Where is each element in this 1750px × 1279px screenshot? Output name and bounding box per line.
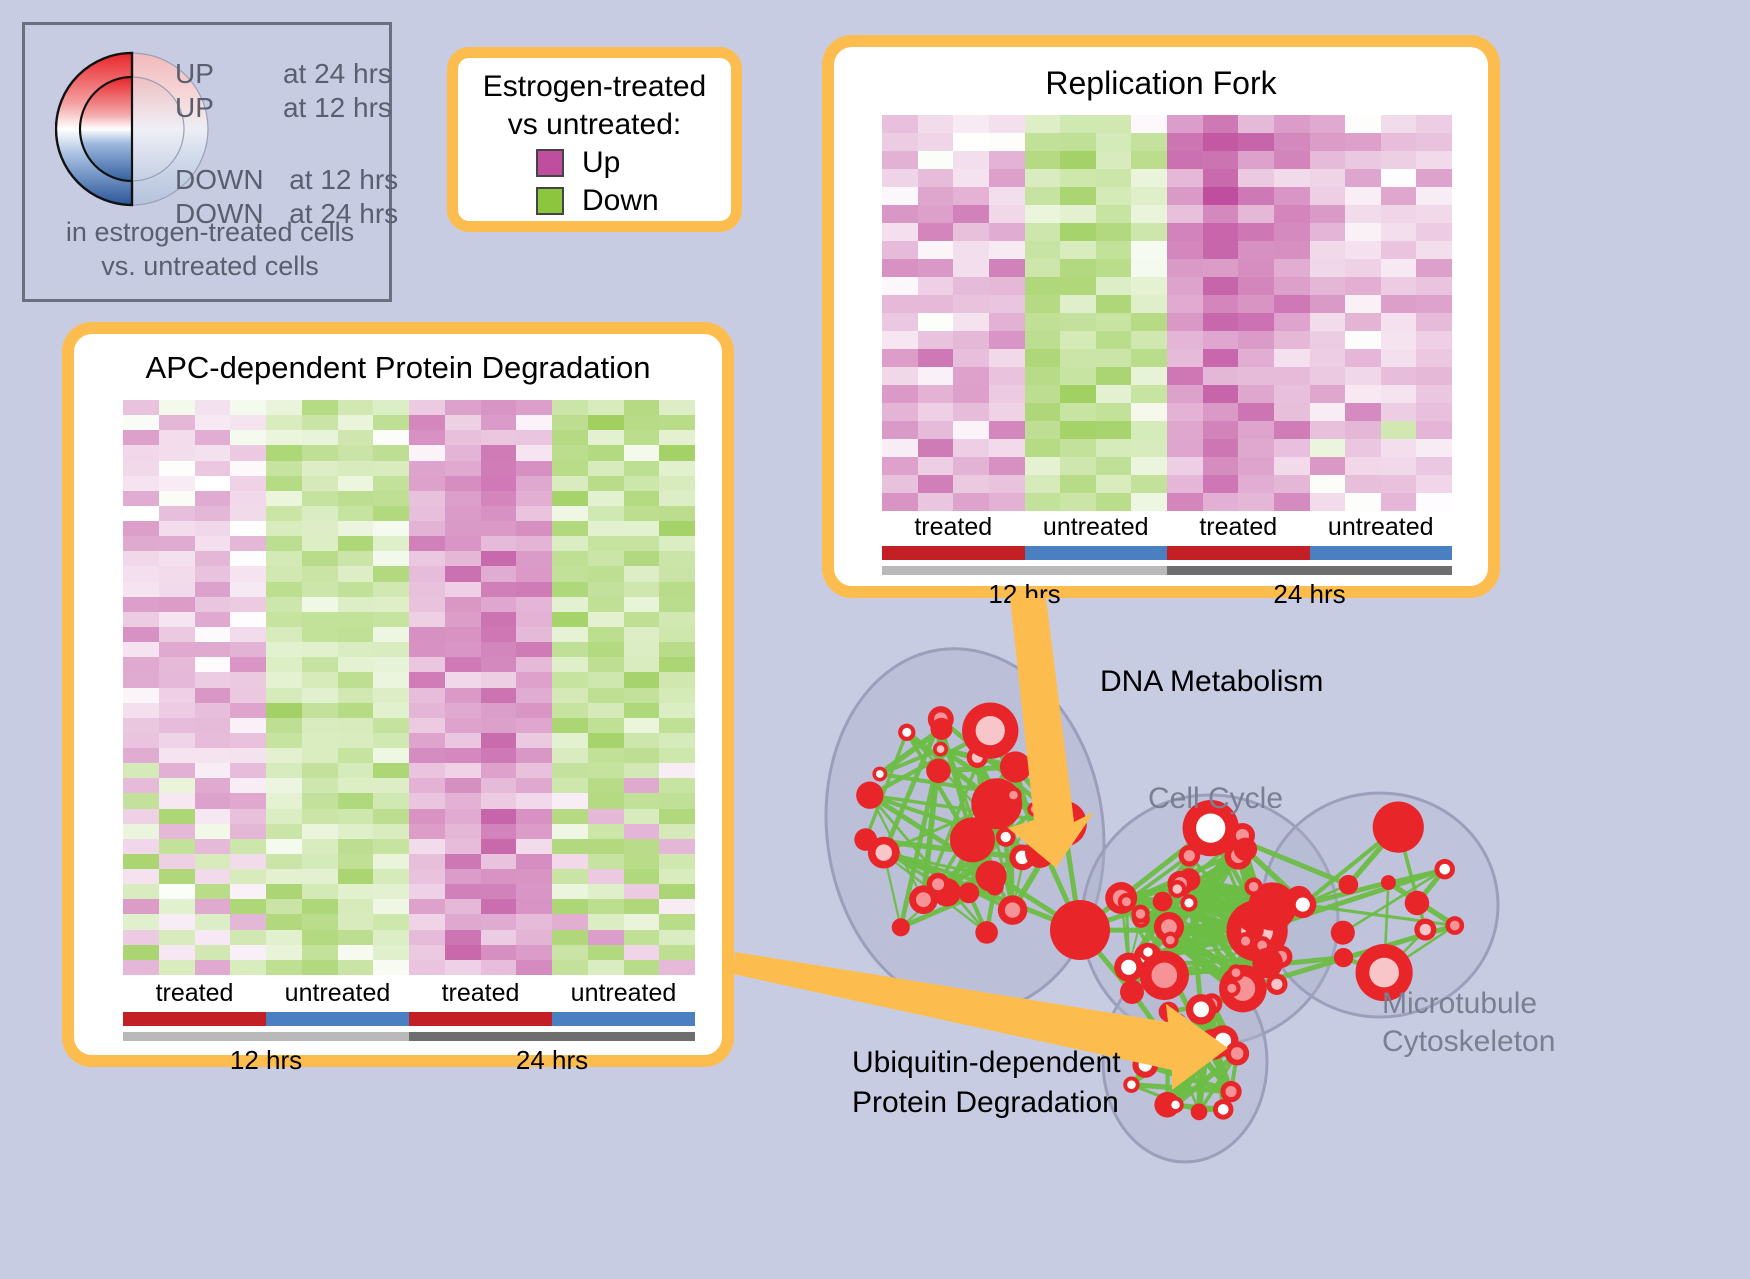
heatmap-cell bbox=[445, 718, 481, 733]
heatmap-cell bbox=[918, 349, 954, 367]
heatmap-cell bbox=[230, 582, 266, 597]
heatmap-cell bbox=[1345, 151, 1381, 169]
heatmap-cell bbox=[1203, 403, 1239, 421]
heatmap-cell bbox=[552, 793, 588, 808]
heatmap-cell bbox=[1416, 457, 1452, 475]
network-node bbox=[930, 718, 952, 740]
heatmap-cell bbox=[159, 960, 195, 975]
network-node bbox=[1234, 838, 1257, 861]
heatmap-cell bbox=[159, 718, 195, 733]
heatmap-cell bbox=[230, 461, 266, 476]
heatmap-cell bbox=[266, 430, 302, 445]
heatmap-cell bbox=[552, 899, 588, 914]
heatmap-cell bbox=[1310, 385, 1346, 403]
heatmap-cell bbox=[409, 521, 445, 536]
heatmap-cell bbox=[1345, 313, 1381, 331]
heatmap-cell bbox=[516, 445, 552, 460]
heatmap-cell bbox=[409, 824, 445, 839]
heatmap-cell bbox=[1416, 349, 1452, 367]
cluster-label-microtubule-cytoskeleton: Microtubule Cytoskeleton bbox=[1382, 985, 1555, 1061]
heatmap-cell bbox=[516, 960, 552, 975]
heatmap-cell bbox=[624, 642, 660, 657]
heatmap-cell bbox=[552, 642, 588, 657]
heatmap-cell bbox=[123, 642, 159, 657]
heatmap-cell bbox=[882, 259, 918, 277]
heatmap-cell bbox=[516, 536, 552, 551]
heatmap-cell bbox=[266, 748, 302, 763]
heatmap-cell bbox=[338, 536, 374, 551]
heatmap-cell bbox=[445, 597, 481, 612]
heatmap-cell bbox=[266, 884, 302, 899]
heatmap-cell bbox=[1025, 403, 1061, 421]
heatmap-cell bbox=[659, 430, 695, 445]
network-node-core bbox=[1225, 1086, 1236, 1097]
time-bar-segment bbox=[882, 566, 1167, 575]
heatmap-cell bbox=[1203, 115, 1239, 133]
heatmap-cell bbox=[1416, 403, 1452, 421]
key-row-up-24: UP at 24 hrs bbox=[175, 57, 405, 91]
heatmap-cell bbox=[1238, 421, 1274, 439]
heatmap-cell bbox=[552, 582, 588, 597]
heatmap-cell bbox=[1131, 385, 1167, 403]
heatmap-cell bbox=[918, 385, 954, 403]
heatmap-cell bbox=[882, 457, 918, 475]
heatmap-cell bbox=[624, 400, 660, 415]
heatmap-cell bbox=[588, 914, 624, 929]
heatmap-cell bbox=[624, 960, 660, 975]
heatmap-cell bbox=[195, 748, 231, 763]
heatmap-cell bbox=[159, 688, 195, 703]
treatment-bar-segment bbox=[1310, 546, 1453, 560]
heatmap-cell bbox=[302, 521, 338, 536]
heatmap-cell bbox=[659, 793, 695, 808]
heatmap-cell bbox=[1345, 403, 1381, 421]
heatmap-cell bbox=[159, 839, 195, 854]
heatmap-cell bbox=[373, 688, 409, 703]
heatmap-cell bbox=[1345, 133, 1381, 151]
heatmap-cell bbox=[409, 854, 445, 869]
heatmap-cell bbox=[918, 205, 954, 223]
heatmap-cell bbox=[1310, 403, 1346, 421]
heatmap-cell bbox=[1167, 349, 1203, 367]
heatmap-cell bbox=[373, 839, 409, 854]
heatmap-cell bbox=[445, 551, 481, 566]
heatmap-cell bbox=[481, 582, 517, 597]
heatmap-cell bbox=[195, 430, 231, 445]
heatmap-cell bbox=[1238, 439, 1274, 457]
heatmap-cell bbox=[1025, 295, 1061, 313]
heatmap-cell bbox=[481, 899, 517, 914]
heatmap-cell bbox=[481, 551, 517, 566]
heatmap-cell bbox=[1416, 259, 1452, 277]
heatmap-cell bbox=[445, 461, 481, 476]
heatmap-cell bbox=[373, 884, 409, 899]
heatmap-cell bbox=[338, 657, 374, 672]
heatmap-cell bbox=[1310, 313, 1346, 331]
network-node-core bbox=[1171, 1101, 1180, 1110]
heatmap-cell bbox=[266, 536, 302, 551]
heatmap-cell bbox=[1167, 205, 1203, 223]
heatmap-cell bbox=[1167, 277, 1203, 295]
heatmap-cell bbox=[552, 960, 588, 975]
heatmap-cell bbox=[1310, 349, 1346, 367]
heatmap-cell bbox=[624, 566, 660, 581]
heatmap-cell bbox=[1238, 295, 1274, 313]
heatmap-cell bbox=[123, 582, 159, 597]
heatmap-cell bbox=[1274, 187, 1310, 205]
heatmap-cell bbox=[1025, 205, 1061, 223]
heatmap-cell bbox=[1203, 457, 1239, 475]
heatmap-cell bbox=[989, 277, 1025, 295]
heatmap-cell bbox=[1345, 349, 1381, 367]
heatmap-cell bbox=[1131, 295, 1167, 313]
apc-treatment-bar bbox=[123, 1012, 695, 1026]
heatmap-cell bbox=[1060, 169, 1096, 187]
network-node-core bbox=[1005, 902, 1020, 917]
heatmap-cell bbox=[624, 672, 660, 687]
heatmap-cell bbox=[123, 521, 159, 536]
heatmap-cell bbox=[159, 733, 195, 748]
heatmap-cell bbox=[552, 839, 588, 854]
cluster-label-ubiquitin-line2: Protein Degradation bbox=[852, 1083, 1121, 1123]
heatmap-cell bbox=[989, 439, 1025, 457]
heatmap-cell bbox=[953, 367, 989, 385]
heatmap-cell bbox=[159, 627, 195, 642]
heatmap-cell bbox=[159, 612, 195, 627]
heatmap-cell bbox=[1060, 277, 1096, 295]
heatmap-cell bbox=[552, 763, 588, 778]
treatment-bar-segment bbox=[1167, 546, 1310, 560]
heatmap-cell bbox=[338, 688, 374, 703]
heatmap-cell bbox=[1345, 493, 1381, 511]
heatmap-cell bbox=[123, 733, 159, 748]
heatmap-cell bbox=[195, 445, 231, 460]
heatmap-cell bbox=[159, 491, 195, 506]
expression-key-rows: UP at 24 hrs UP at 12 hrs DOWN at 12 hrs… bbox=[175, 57, 405, 231]
heatmap-cell bbox=[516, 884, 552, 899]
heatmap-cell bbox=[123, 930, 159, 945]
heatmap-cell bbox=[1345, 277, 1381, 295]
heatmap-cell bbox=[953, 457, 989, 475]
heatmap-cell bbox=[588, 718, 624, 733]
heatmap-cell bbox=[266, 718, 302, 733]
heatmap-cell bbox=[123, 945, 159, 960]
heatmap-cell bbox=[195, 612, 231, 627]
heatmap-cell bbox=[266, 521, 302, 536]
network-node-core bbox=[1173, 884, 1182, 893]
network-node-core bbox=[1184, 898, 1193, 907]
heatmap-cell bbox=[659, 506, 695, 521]
heatmap-cell bbox=[659, 778, 695, 793]
heatmap-cell bbox=[123, 778, 159, 793]
heatmap-cell bbox=[1381, 331, 1417, 349]
heatmap-cell bbox=[1274, 241, 1310, 259]
heatmap-cell bbox=[659, 733, 695, 748]
heatmap-cell bbox=[409, 491, 445, 506]
heatmap-cell bbox=[230, 506, 266, 521]
heatmap-cell bbox=[1060, 115, 1096, 133]
heatmap-cell bbox=[989, 205, 1025, 223]
heatmap-cell bbox=[918, 421, 954, 439]
heatmap-cell bbox=[481, 839, 517, 854]
heatmap-cell bbox=[882, 223, 918, 241]
heatmap-cell bbox=[302, 793, 338, 808]
heatmap-cell bbox=[516, 521, 552, 536]
heatmap-cell bbox=[1060, 331, 1096, 349]
heatmap-cell bbox=[1238, 187, 1274, 205]
heatmap-cell bbox=[230, 430, 266, 445]
network-node bbox=[856, 782, 883, 809]
heatmap-cell bbox=[338, 642, 374, 657]
heatmap-cell bbox=[516, 400, 552, 415]
heatmap-cell bbox=[588, 597, 624, 612]
heatmap-cell bbox=[195, 854, 231, 869]
heatmap-cell bbox=[1203, 133, 1239, 151]
network-node bbox=[1000, 751, 1031, 782]
heatmap-cell bbox=[409, 703, 445, 718]
heatmap-cell bbox=[159, 854, 195, 869]
heatmap-cell bbox=[953, 439, 989, 457]
heatmap-cell bbox=[373, 491, 409, 506]
heatmap-cell bbox=[552, 672, 588, 687]
expression-key-box: UP at 24 hrs UP at 12 hrs DOWN at 12 hrs… bbox=[22, 22, 392, 302]
heatmap-cell bbox=[230, 551, 266, 566]
heatmap-cell bbox=[1203, 295, 1239, 313]
heatmap-cell bbox=[266, 778, 302, 793]
heatmap-cell bbox=[373, 703, 409, 718]
heatmap-cell bbox=[302, 824, 338, 839]
heatmap-cell bbox=[1310, 457, 1346, 475]
network-node-core bbox=[1249, 882, 1259, 892]
network-node bbox=[1252, 948, 1283, 979]
heatmap-cell bbox=[195, 839, 231, 854]
group-label-untreated-24: untreated bbox=[1310, 513, 1453, 542]
expression-key-caption: in estrogen-treated cells vs. untreated … bbox=[25, 215, 395, 283]
heatmap-cell bbox=[1060, 313, 1096, 331]
heatmap-cell bbox=[159, 461, 195, 476]
heatmap-cell bbox=[195, 824, 231, 839]
heatmap-cell bbox=[588, 854, 624, 869]
heatmap-cell bbox=[624, 763, 660, 778]
heatmap-cell bbox=[624, 793, 660, 808]
heatmap-cell bbox=[516, 733, 552, 748]
heatmap-cell bbox=[266, 582, 302, 597]
heatmap-cell bbox=[882, 205, 918, 223]
heatmap-cell bbox=[516, 899, 552, 914]
heatmap-cell bbox=[1167, 295, 1203, 313]
heatmap-cell bbox=[1025, 421, 1061, 439]
heatmap-cell bbox=[159, 642, 195, 657]
heatmap-cell bbox=[409, 476, 445, 491]
heatmap-cell bbox=[1381, 205, 1417, 223]
heatmap-cell bbox=[230, 627, 266, 642]
heatmap-cell bbox=[552, 657, 588, 672]
heatmap-cell bbox=[1310, 331, 1346, 349]
heatmap-cell bbox=[1310, 367, 1346, 385]
heatmap-cell bbox=[918, 493, 954, 511]
heatmap-cell bbox=[159, 793, 195, 808]
heatmap-cell bbox=[918, 403, 954, 421]
heatmap-cell bbox=[409, 551, 445, 566]
heatmap-cell bbox=[1274, 277, 1310, 295]
heatmap-cell bbox=[516, 688, 552, 703]
heatmap-cell bbox=[266, 930, 302, 945]
heatmap-cell bbox=[1060, 403, 1096, 421]
heatmap-cell bbox=[159, 430, 195, 445]
heatmap-cell bbox=[552, 476, 588, 491]
heatmap-cell bbox=[516, 839, 552, 854]
heatmap-cell bbox=[1274, 439, 1310, 457]
heatmap-cell bbox=[195, 899, 231, 914]
heatmap-cell bbox=[1274, 385, 1310, 403]
heatmap-cell bbox=[266, 566, 302, 581]
heatmap-cell bbox=[123, 960, 159, 975]
heatmap-cell bbox=[1416, 151, 1452, 169]
apc-time-labels: 12 hrs 24 hrs bbox=[123, 1045, 695, 1076]
heatmap-cell bbox=[195, 657, 231, 672]
heatmap-cell bbox=[266, 461, 302, 476]
heatmap-cell bbox=[230, 400, 266, 415]
heatmap-cell bbox=[481, 930, 517, 945]
heatmap-cell bbox=[659, 551, 695, 566]
heatmap-cell bbox=[302, 748, 338, 763]
heatmap-cell bbox=[882, 385, 918, 403]
heatmap-cell bbox=[373, 506, 409, 521]
heatmap-cell bbox=[373, 763, 409, 778]
heatmap-cell bbox=[123, 914, 159, 929]
heatmap-cell bbox=[1203, 313, 1239, 331]
heatmap-cell bbox=[516, 612, 552, 627]
heatmap-cell bbox=[1238, 277, 1274, 295]
heatmap-cell bbox=[882, 493, 918, 511]
network-node-core bbox=[1139, 1058, 1152, 1071]
heatmap-cell bbox=[230, 839, 266, 854]
cluster-label-dna-metabolism: DNA Metabolism bbox=[1100, 665, 1323, 699]
heatmap-cell bbox=[552, 945, 588, 960]
heatmap-cell bbox=[1203, 205, 1239, 223]
network-node-core bbox=[1241, 936, 1250, 945]
heatmap-cell bbox=[588, 506, 624, 521]
heatmap-cell bbox=[373, 778, 409, 793]
network-node bbox=[1025, 838, 1055, 868]
heatmap-cell bbox=[1310, 205, 1346, 223]
heatmap-cell bbox=[1274, 223, 1310, 241]
heatmap-cell bbox=[266, 506, 302, 521]
heatmap-cell bbox=[159, 415, 195, 430]
heatmap-cell bbox=[588, 445, 624, 460]
heatmap-cell bbox=[195, 521, 231, 536]
heatmap-cell bbox=[882, 295, 918, 313]
heatmap-cell bbox=[159, 869, 195, 884]
heatmap-cell bbox=[230, 824, 266, 839]
heatmap-cell bbox=[195, 703, 231, 718]
heatmap-cell bbox=[1274, 403, 1310, 421]
heatmap-cell bbox=[409, 793, 445, 808]
heatmap-cell bbox=[1096, 223, 1132, 241]
heatmap-cell bbox=[516, 657, 552, 672]
heatmap-cell bbox=[445, 445, 481, 460]
network-node bbox=[1240, 914, 1257, 931]
heatmap-cell bbox=[409, 597, 445, 612]
heatmap-cell bbox=[159, 657, 195, 672]
heatmap-cell bbox=[624, 582, 660, 597]
up-color-swatch bbox=[536, 149, 564, 177]
heatmap-cell bbox=[373, 521, 409, 536]
heatmap-cell bbox=[123, 763, 159, 778]
replication-fork-title: Replication Fork bbox=[834, 65, 1488, 102]
heatmap-cell bbox=[338, 506, 374, 521]
heatmap-cell bbox=[195, 536, 231, 551]
heatmap-cell bbox=[1416, 205, 1452, 223]
heatmap-cell bbox=[989, 115, 1025, 133]
heatmap-cell bbox=[481, 476, 517, 491]
network-node-core bbox=[1121, 960, 1136, 975]
heatmap-cell bbox=[409, 718, 445, 733]
network-node-core bbox=[1271, 979, 1282, 990]
heatmap-cell bbox=[1345, 385, 1381, 403]
heatmap-cell bbox=[230, 415, 266, 430]
time-bar-segment bbox=[123, 1032, 409, 1041]
heatmap-cell bbox=[195, 945, 231, 960]
heatmap-cell bbox=[302, 945, 338, 960]
network-node bbox=[975, 860, 1006, 891]
heatmap-cell bbox=[373, 718, 409, 733]
heatmap-cell bbox=[1025, 475, 1061, 493]
heatmap-cell bbox=[1131, 241, 1167, 259]
network-node-core bbox=[1143, 947, 1152, 956]
heatmap-cell bbox=[1381, 187, 1417, 205]
heatmap-cell bbox=[624, 551, 660, 566]
heatmap-cell bbox=[659, 809, 695, 824]
network-node bbox=[1041, 801, 1087, 847]
apc-group-labels: treated untreated treated untreated bbox=[123, 979, 695, 1008]
heatmap-cell bbox=[624, 612, 660, 627]
heatmap-cell bbox=[1131, 115, 1167, 133]
replication-fork-heatmap bbox=[882, 115, 1452, 511]
heatmap-cell bbox=[159, 597, 195, 612]
heatmap-cell bbox=[159, 536, 195, 551]
heatmap-cell bbox=[953, 115, 989, 133]
heatmap-cell bbox=[195, 415, 231, 430]
heatmap-cell bbox=[159, 778, 195, 793]
heatmap-cell bbox=[266, 657, 302, 672]
heatmap-cell bbox=[1238, 385, 1274, 403]
heatmap-cell bbox=[159, 506, 195, 521]
heatmap-cell bbox=[338, 854, 374, 869]
heatmap-cell bbox=[659, 582, 695, 597]
heatmap-cell bbox=[445, 703, 481, 718]
heatmap-cell bbox=[1167, 241, 1203, 259]
time-bar-segment bbox=[1167, 566, 1452, 575]
heatmap-cell bbox=[624, 491, 660, 506]
heatmap-cell bbox=[123, 748, 159, 763]
heatmap-cell bbox=[1238, 331, 1274, 349]
heatmap-cell bbox=[1345, 169, 1381, 187]
heatmap-cell bbox=[195, 688, 231, 703]
heatmap-cell bbox=[123, 445, 159, 460]
heatmap-cell bbox=[445, 688, 481, 703]
heatmap-cell bbox=[1025, 133, 1061, 151]
cluster-label-cell-cycle: Cell Cycle bbox=[1148, 782, 1283, 816]
heatmap-cell bbox=[123, 854, 159, 869]
heatmap-cell bbox=[1167, 313, 1203, 331]
heatmap-cell bbox=[481, 884, 517, 899]
network-node-core bbox=[1009, 791, 1017, 799]
up-down-legend-title: Estrogen-treated vs untreated: bbox=[458, 68, 731, 144]
heatmap-cell bbox=[159, 582, 195, 597]
heatmap-cell bbox=[302, 854, 338, 869]
heatmap-cell bbox=[409, 445, 445, 460]
